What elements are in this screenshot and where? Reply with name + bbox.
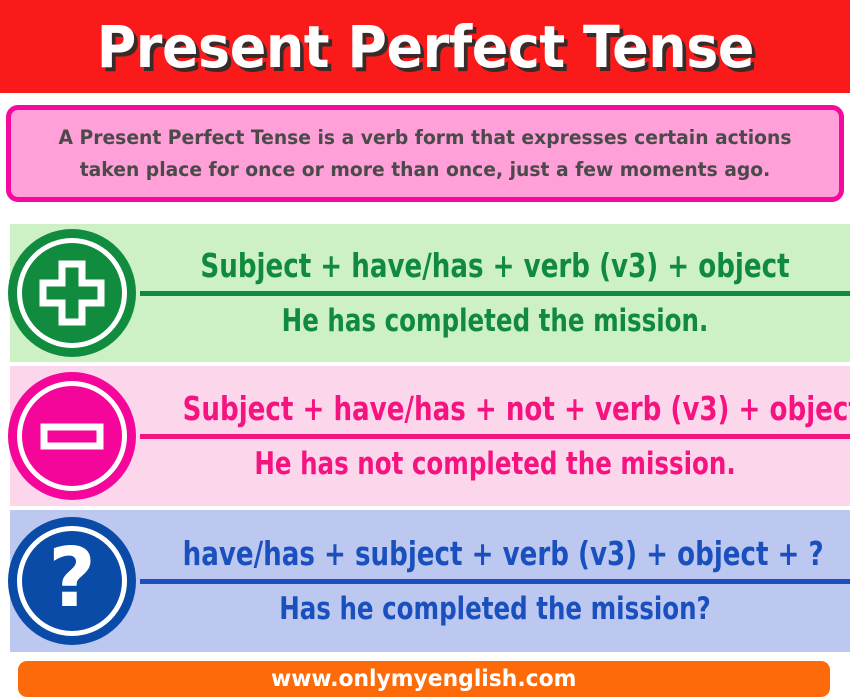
- description-text: A Present Perfect Tense is a verb form t…: [41, 122, 809, 185]
- footer-bar: www.onlymyenglish.com: [18, 661, 830, 697]
- rule-formula-positive: Subject + have/has + verb (v3) + object: [183, 249, 808, 291]
- rule-example-positive: He has completed the mission.: [183, 296, 808, 337]
- question-mark-glyph: ?: [48, 538, 96, 620]
- page-title: Present Perfect Tense: [96, 18, 753, 76]
- rule-content-negative: Subject + have/has + not + verb (v3) + o…: [140, 366, 850, 506]
- rule-formula-negative: Subject + have/has + not + verb (v3) + o…: [183, 392, 808, 434]
- minus-icon: [8, 372, 136, 500]
- minus-glyph: [35, 399, 109, 473]
- rule-example-negative: He has not completed the mission.: [183, 439, 808, 480]
- rule-row-positive: Subject + have/has + verb (v3) + object …: [0, 224, 850, 362]
- rule-row-negative: Subject + have/has + not + verb (v3) + o…: [0, 366, 850, 506]
- rule-content-question: have/has + subject + verb (v3) + object …: [140, 510, 850, 652]
- title-banner: Present Perfect Tense: [0, 0, 850, 93]
- rule-example-question: Has he completed the mission?: [183, 584, 808, 625]
- question-mark-icon: ?: [8, 517, 136, 645]
- rule-formula-question: have/has + subject + verb (v3) + object …: [183, 537, 808, 579]
- description-box: A Present Perfect Tense is a verb form t…: [6, 105, 844, 202]
- infographic-poster: Present Perfect Tense A Present Perfect …: [0, 0, 850, 700]
- plus-icon: [8, 229, 136, 357]
- rule-row-question: have/has + subject + verb (v3) + object …: [0, 510, 850, 652]
- rule-content-positive: Subject + have/has + verb (v3) + object …: [140, 224, 850, 362]
- plus-glyph: [35, 256, 109, 330]
- website-url: www.onlymyenglish.com: [271, 668, 576, 691]
